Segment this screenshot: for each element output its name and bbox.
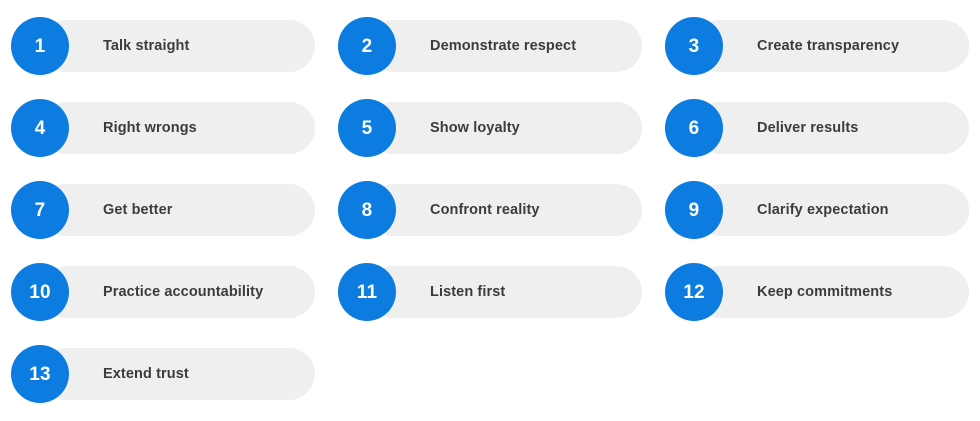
- item-label: Show loyalty: [430, 99, 520, 157]
- item-number-badge: 6: [665, 99, 723, 157]
- item-number-badge: 3: [665, 17, 723, 75]
- list-item[interactable]: 8Confront reality: [338, 181, 642, 239]
- list-item[interactable]: 6Deliver results: [665, 99, 969, 157]
- list-item[interactable]: 11Listen first: [338, 263, 642, 321]
- list-item[interactable]: 3Create transparency: [665, 17, 969, 75]
- list-item[interactable]: 7Get better: [11, 181, 315, 239]
- item-number-badge: 1: [11, 17, 69, 75]
- list-item[interactable]: 5Show loyalty: [338, 99, 642, 157]
- behaviors-board: 1Talk straight2Demonstrate respect3Creat…: [0, 0, 980, 421]
- item-label: Listen first: [430, 263, 505, 321]
- item-label: Demonstrate respect: [430, 17, 576, 75]
- item-number-badge: 5: [338, 99, 396, 157]
- list-item[interactable]: 9Clarify expectation: [665, 181, 969, 239]
- list-item[interactable]: 2Demonstrate respect: [338, 17, 642, 75]
- list-item[interactable]: 10Practice accountability: [11, 263, 315, 321]
- item-number-badge: 2: [338, 17, 396, 75]
- list-item[interactable]: 13Extend trust: [11, 345, 315, 403]
- behaviors-grid: 1Talk straight2Demonstrate respect3Creat…: [11, 17, 969, 403]
- item-label: Extend trust: [103, 345, 189, 403]
- list-item[interactable]: 1Talk straight: [11, 17, 315, 75]
- item-number-badge: 9: [665, 181, 723, 239]
- item-label: Get better: [103, 181, 173, 239]
- item-number-badge: 7: [11, 181, 69, 239]
- item-number-badge: 8: [338, 181, 396, 239]
- item-label: Create transparency: [757, 17, 899, 75]
- item-number-badge: 13: [11, 345, 69, 403]
- list-item[interactable]: 4Right wrongs: [11, 99, 315, 157]
- list-item[interactable]: 12Keep commitments: [665, 263, 969, 321]
- item-label: Talk straight: [103, 17, 189, 75]
- item-number-badge: 11: [338, 263, 396, 321]
- item-label: Confront reality: [430, 181, 540, 239]
- item-number-badge: 12: [665, 263, 723, 321]
- item-number-badge: 4: [11, 99, 69, 157]
- item-label: Practice accountability: [103, 263, 263, 321]
- item-pill: [40, 184, 315, 236]
- item-label: Clarify expectation: [757, 181, 889, 239]
- item-label: Deliver results: [757, 99, 858, 157]
- item-label: Right wrongs: [103, 99, 197, 157]
- item-number-badge: 10: [11, 263, 69, 321]
- item-label: Keep commitments: [757, 263, 892, 321]
